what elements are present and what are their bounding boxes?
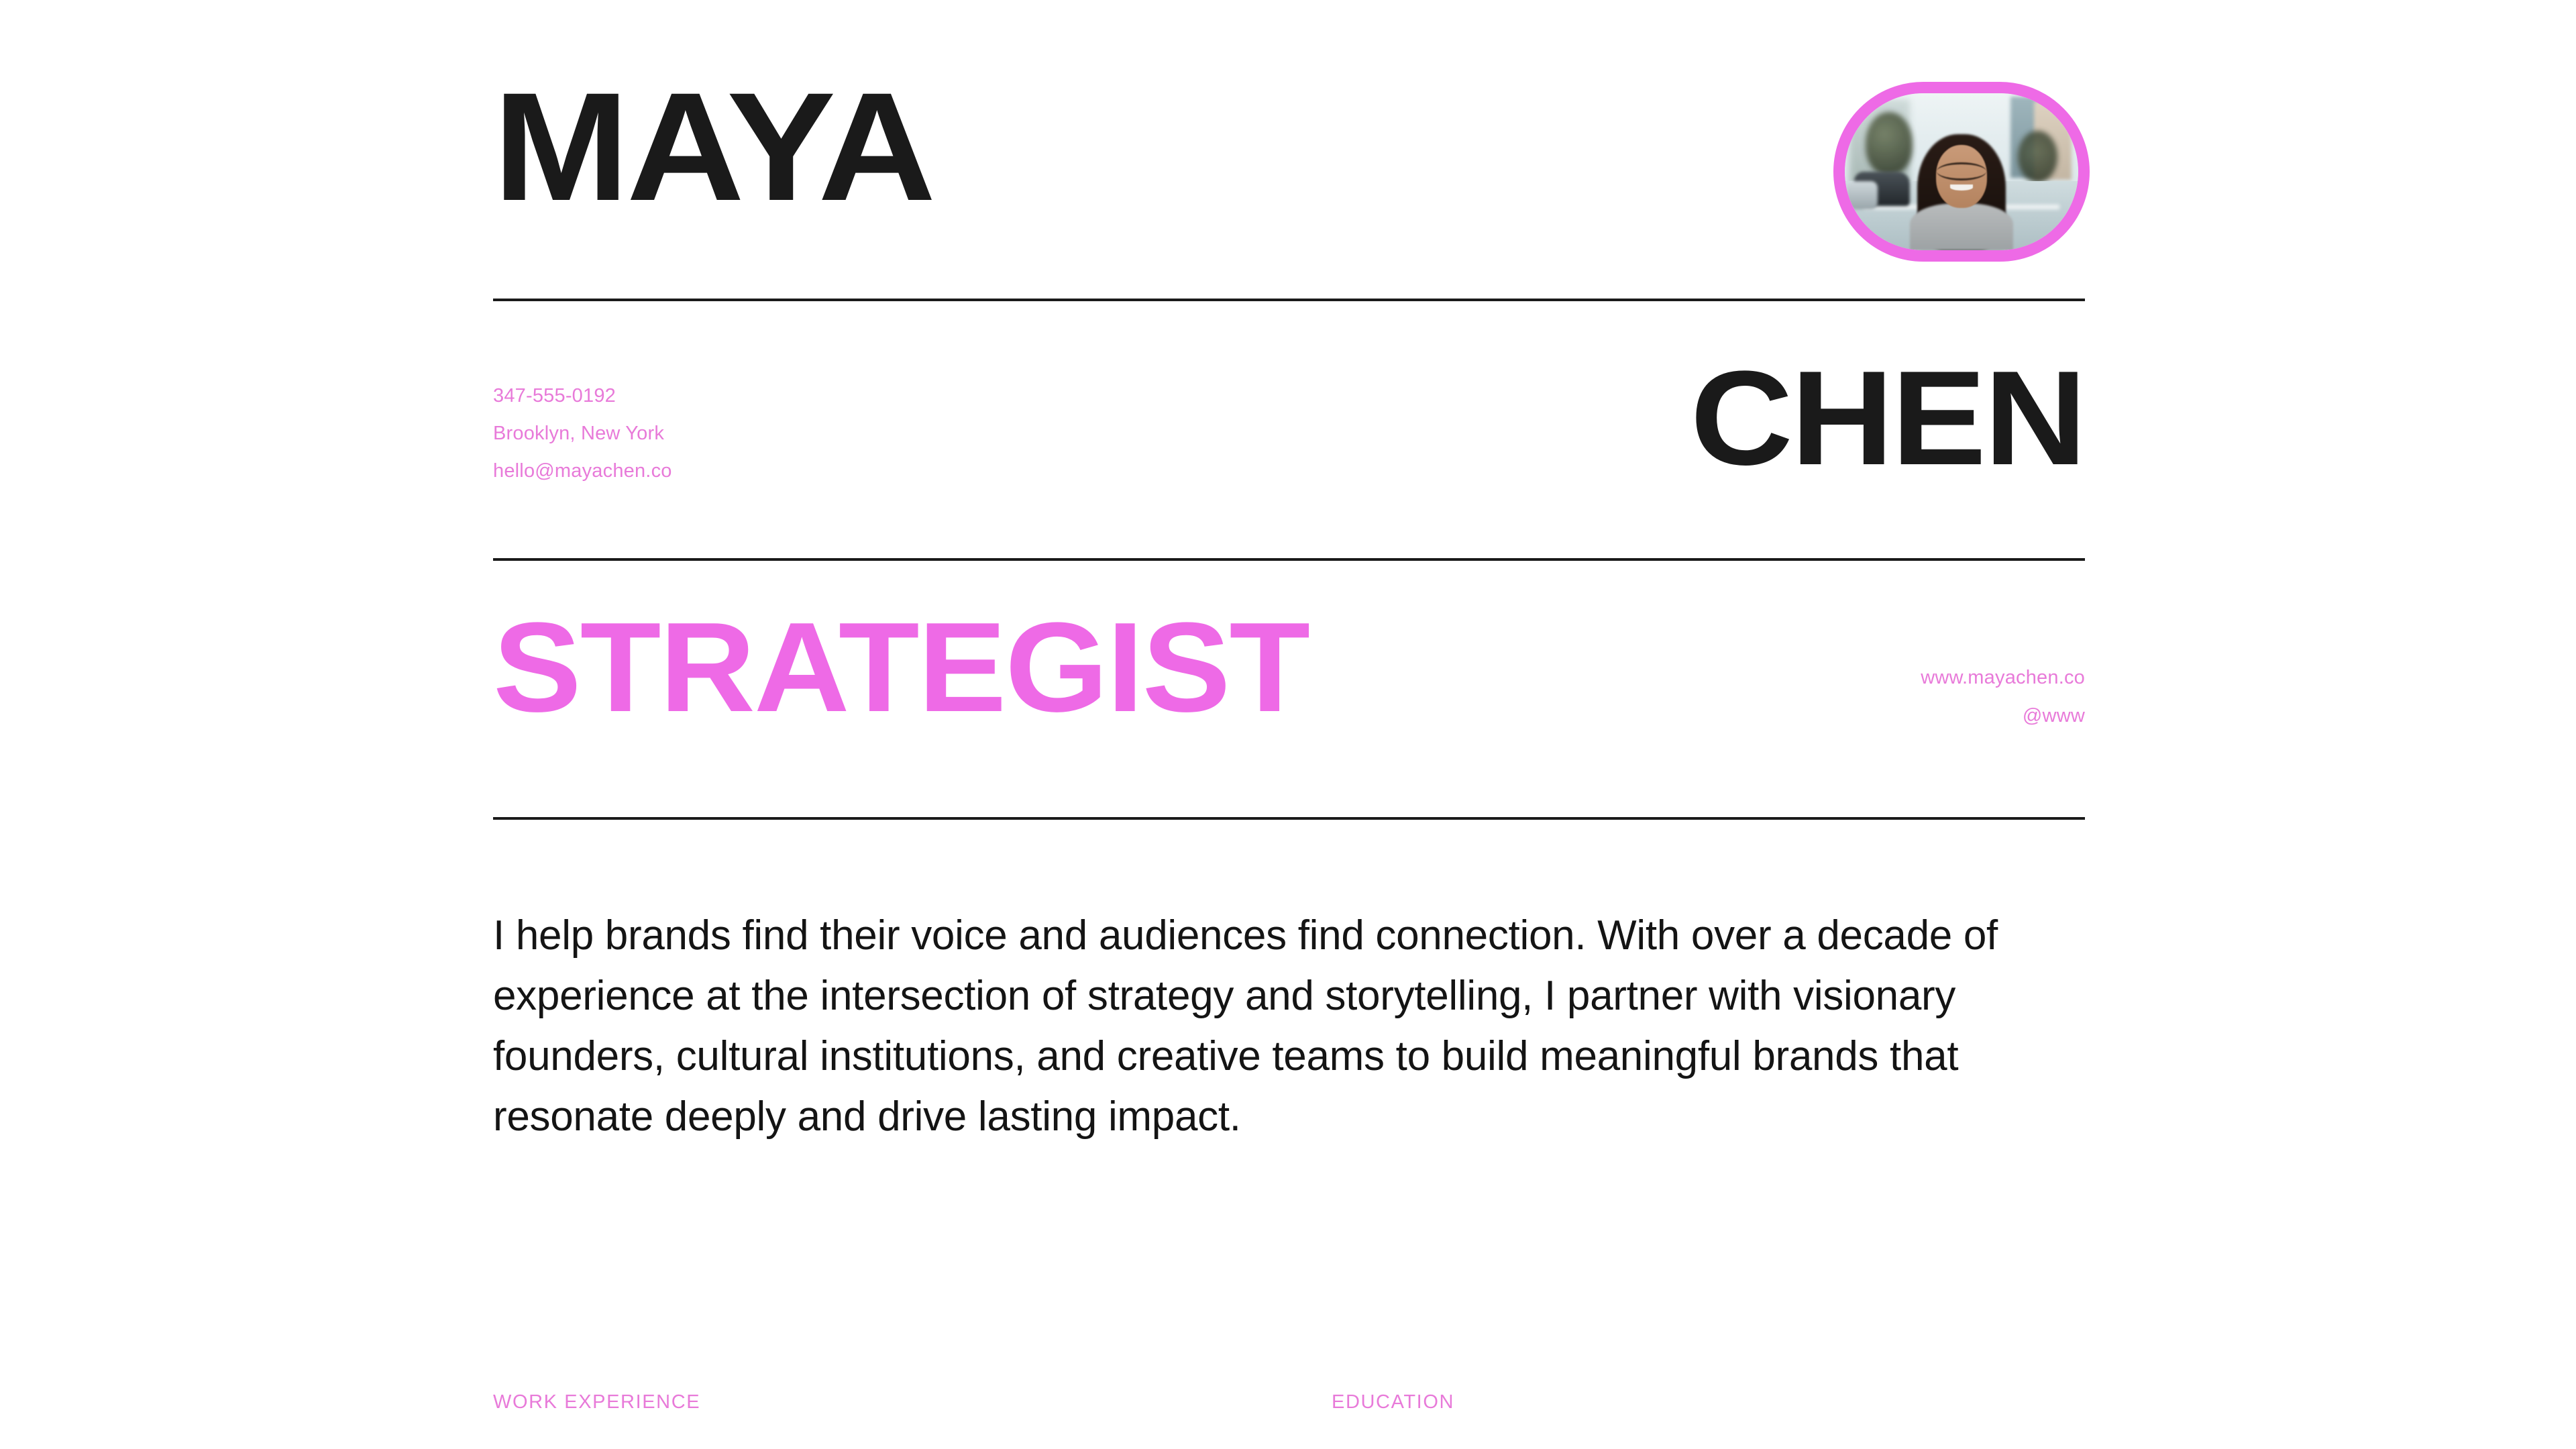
divider-bottom bbox=[493, 817, 2085, 820]
divider-middle bbox=[493, 558, 2085, 561]
avatar-photo bbox=[1845, 93, 2078, 250]
glasses-icon bbox=[1937, 162, 1986, 180]
photo-tree-left bbox=[1866, 112, 1913, 175]
photo-subject-torso bbox=[1910, 203, 2012, 250]
divider-top bbox=[493, 299, 2085, 301]
page-title-first-name: MAYA bbox=[493, 70, 933, 224]
section-label-work-experience: WORK EXPERIENCE bbox=[493, 1391, 700, 1413]
contact-email[interactable]: hello@mayachen.co bbox=[493, 452, 672, 490]
section-label-education: EDUCATION bbox=[1332, 1391, 1454, 1413]
contact-phone[interactable]: 347-555-0192 bbox=[493, 377, 672, 415]
photo-tree-right bbox=[2018, 131, 2057, 182]
contact-block: 347-555-0192 Brooklyn, New York hello@ma… bbox=[493, 377, 672, 490]
role-title: STRATEGIST bbox=[493, 604, 1309, 731]
resume-page: MAYA 347-555-0192 Brooklyn, New York hel… bbox=[0, 0, 2576, 1449]
contact-location: Brooklyn, New York bbox=[493, 415, 672, 452]
bio-paragraph: I help brands find their voice and audie… bbox=[493, 906, 2096, 1147]
avatar bbox=[1833, 82, 2090, 262]
photo-car-light bbox=[1847, 181, 1877, 209]
link-social[interactable]: @www bbox=[1921, 697, 2085, 735]
link-website[interactable]: www.mayachen.co bbox=[1921, 659, 2085, 697]
links-block: www.mayachen.co @www bbox=[1921, 659, 2085, 735]
page-title-last-name: CHEN bbox=[1690, 352, 2085, 486]
